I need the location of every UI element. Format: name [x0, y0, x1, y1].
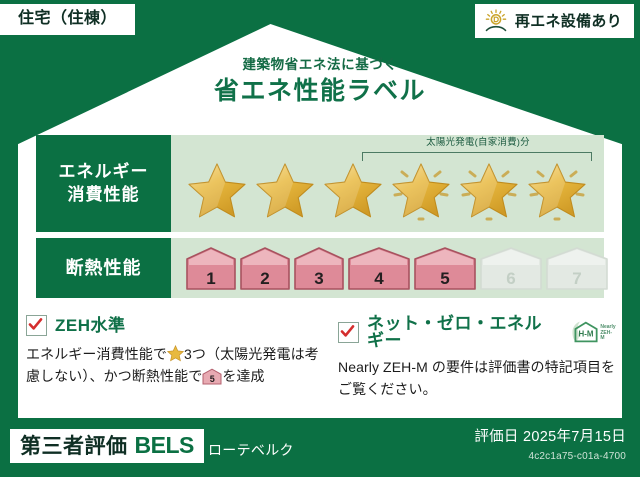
insulation-level-filled: 4	[347, 246, 411, 291]
certificate-id: 4c2c1a75-c01a-4700	[474, 452, 626, 462]
insulation-level-number: 2	[239, 270, 291, 287]
insulation-level-filled: 2	[239, 246, 291, 291]
zeh-logo-caption-line2: ZEH-M	[600, 330, 612, 341]
energy-rating-panel: 太陽光発電(自家消費)分	[171, 135, 604, 232]
star-solar	[457, 157, 521, 223]
criteria-statements: ZEH水準 エネルギー消費性能で3つ（太陽光発電は考慮しない）、かつ断熱性能で5…	[26, 315, 616, 400]
label-footer: 第三者評価 BELS ローテベルク 評価日 2025年7月15日 4c2c1a7…	[0, 418, 640, 477]
star-solar	[525, 157, 589, 223]
star-base	[321, 157, 385, 223]
renewable-badge-label: 再エネ設備あり	[515, 14, 622, 29]
insulation-level-number: 1	[185, 270, 237, 287]
insulation-rating-panel: 1 2 3 4 5	[171, 238, 604, 298]
net-zero-energy-title: ネット・ゼロ・エネルギー	[367, 315, 557, 349]
building-type-chip: 住宅（住棟）	[0, 4, 135, 35]
zeh-logo-caption: Nearly ZEH-M	[600, 325, 616, 344]
zeh-m-logo: H-M Nearly ZEH-M	[569, 320, 616, 344]
net-zero-energy-body: Nearly ZEH-M の要件は評価書の特記項目をご覧ください。	[338, 356, 616, 400]
checkmark-icon	[26, 315, 47, 336]
energy-label-line2: 消費性能	[68, 184, 140, 207]
insulation-performance-label: 断熱性能	[36, 238, 171, 298]
insulation-level-filled: 3	[293, 246, 345, 291]
insulation-performance-row: 断熱性能 1 2 3 4	[36, 238, 604, 298]
insulation-level-number: 4	[347, 270, 411, 287]
insulation-label-line1: 断熱性能	[66, 256, 142, 280]
inline-star-icon	[167, 345, 184, 362]
solar-contribution-note: 太陽光発電(自家消費)分	[362, 138, 594, 148]
label-title-block: 建築物省エネ法に基づく 省エネ性能ラベル	[0, 58, 640, 104]
energy-performance-label: エネルギー 消費性能	[36, 135, 171, 232]
insulation-level-number: 5	[413, 270, 477, 287]
insulation-level-empty: 6	[479, 246, 543, 291]
performance-rows: エネルギー 消費性能 太陽光発電(自家消費)分	[36, 135, 604, 304]
insulation-level-filled: 1	[185, 246, 237, 291]
bels-label: BELS	[135, 434, 194, 457]
insulation-level-filled: 5	[413, 246, 477, 291]
zeh-standard-title: ZEH水準	[55, 317, 126, 334]
insulation-level-number: 6	[479, 270, 543, 287]
star-solar	[389, 157, 453, 223]
net-zero-energy-heading: ネット・ゼロ・エネルギー H-M Nearly ZEH-M	[338, 315, 616, 349]
insulation-level-empty: 7	[545, 246, 609, 291]
inline-house-level: 5	[202, 375, 222, 384]
bels-certification-chip: 第三者評価 BELS	[10, 429, 204, 463]
insulation-level-number: 7	[545, 270, 609, 287]
zeh-body-part3: を達成	[222, 368, 264, 384]
star-rating	[171, 157, 604, 223]
zeh-standard-body: エネルギー消費性能で3つ（太陽光発電は考慮しない）、かつ断熱性能で5を達成	[26, 343, 322, 387]
net-zero-energy-statement: ネット・ゼロ・エネルギー H-M Nearly ZEH-M Nearly ZEH…	[338, 315, 616, 400]
energy-label-line1: エネルギー	[59, 161, 149, 184]
star-base	[253, 157, 317, 223]
label-subtitle: 建築物省エネ法に基づく	[0, 58, 640, 72]
renewable-equipment-badge: 再エネ設備あり	[475, 4, 634, 38]
star-base	[185, 157, 249, 223]
svg-text:H-M: H-M	[578, 330, 593, 339]
energy-performance-row: エネルギー 消費性能 太陽光発電(自家消費)分	[36, 135, 604, 232]
label-main-title: 省エネ性能ラベル	[0, 79, 640, 104]
zeh-standard-statement: ZEH水準 エネルギー消費性能で3つ（太陽光発電は考慮しない）、かつ断熱性能で5…	[26, 315, 322, 400]
sun-icon	[483, 9, 509, 33]
third-party-evaluation-label: 第三者評価	[20, 436, 128, 457]
checkmark-icon	[338, 322, 359, 343]
energy-performance-label: 住宅（住棟） 再エネ設備あり 建築物省エネ法に基づく	[0, 0, 640, 477]
insulation-scale: 1 2 3 4 5	[171, 246, 604, 291]
evaluation-meta: 評価日 2025年7月15日 4c2c1a75-c01a-4700	[474, 430, 626, 462]
owner-name: ローテベルク	[208, 443, 294, 457]
zeh-body-part1: エネルギー消費性能で	[26, 346, 167, 362]
inline-house-icon: 5	[202, 368, 222, 385]
evaluation-date: 評価日 2025年7月15日	[474, 430, 626, 445]
insulation-level-number: 3	[293, 270, 345, 287]
building-type-label: 住宅（住棟）	[18, 10, 117, 27]
zeh-standard-heading: ZEH水準	[26, 315, 322, 336]
